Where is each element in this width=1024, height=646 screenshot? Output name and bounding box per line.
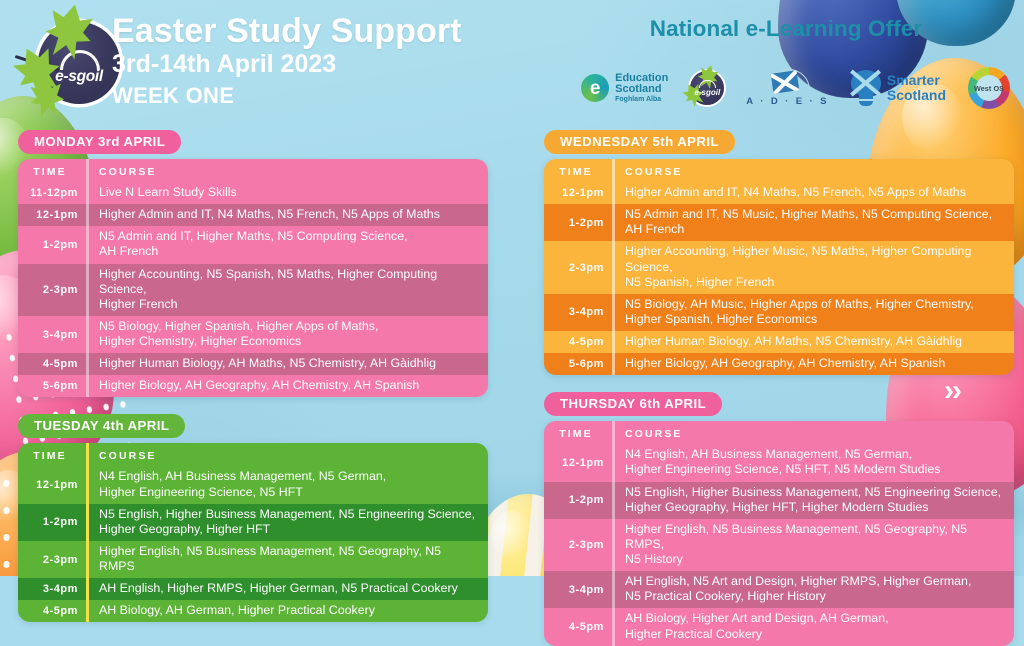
- day-title-monday: MONDAY 3rd APRIL: [18, 130, 181, 154]
- cell-time: 4-5pm: [18, 353, 86, 375]
- partner-logos: Education Scotland Foghlam Alba e-sgoil …: [581, 62, 1010, 114]
- cell-time: 1-2pm: [544, 204, 612, 241]
- schedule-table-thursday: TIMECOURSE12-1pmN4 English, AH Business …: [544, 421, 1014, 645]
- cell-time: 5-6pm: [544, 353, 612, 375]
- cell-course: Higher Admin and IT, N4 Maths, N5 French…: [86, 204, 488, 226]
- table-row: 3-4pmAH English, Higher RMPS, Higher Ger…: [18, 578, 488, 600]
- table-row: 11-12pmLive N Learn Study Skills: [18, 182, 488, 204]
- day-block-tuesday: TUESDAY 4th APRILTIMECOURSE12-1pmN4 Engl…: [18, 414, 488, 622]
- table-row: 1-2pmN5 English, Higher Business Managem…: [544, 482, 1014, 519]
- page-subtitle: 3rd-14th April 2023: [112, 50, 462, 80]
- table-row: 3-4pmN5 Biology, Higher Spanish, Higher …: [18, 316, 488, 353]
- cell-time: 4-5pm: [544, 608, 612, 645]
- table-row: 1-2pmN5 Admin and IT, Higher Maths, N5 C…: [18, 226, 488, 263]
- cell-time: 4-5pm: [18, 600, 86, 622]
- column-header-course: COURSE: [86, 159, 488, 182]
- day-title-thursday: THURSDAY 6th APRIL: [544, 392, 722, 416]
- smarter-scotland-line2: Scotland: [887, 88, 946, 103]
- day-title-tuesday: TUESDAY 4th APRIL: [18, 414, 185, 438]
- day-block-wednesday: WEDNESDAY 5th APRILTIMECOURSE12-1pmHighe…: [544, 130, 1014, 375]
- table-row: 4-5pmAH Biology, Higher Art and Design, …: [544, 608, 1014, 645]
- course-line: Higher Geography, Higher HFT: [99, 522, 475, 537]
- day-block-thursday: THURSDAY 6th APRILTIMECOURSE12-1pmN4 Eng…: [544, 392, 1014, 645]
- table-row: 1-2pmN5 Admin and IT, N5 Music, Higher M…: [544, 204, 1014, 241]
- course-line: Higher English, N5 Business Management, …: [99, 544, 478, 574]
- course-line: Higher Human Biology, AH Maths, N5 Chemi…: [99, 356, 436, 371]
- table-row: 2-3pmHigher English, N5 Business Managem…: [544, 519, 1014, 571]
- course-line: N5 Admin and IT, N5 Music, Higher Maths,…: [625, 207, 992, 222]
- cell-time: 11-12pm: [18, 182, 86, 204]
- cell-time: 2-3pm: [544, 519, 612, 571]
- table-row: 2-3pmHigher Accounting, N5 Spanish, N5 M…: [18, 264, 488, 316]
- course-line: AH French: [625, 222, 992, 237]
- title-block: Easter Study Support 3rd-14th April 2023…: [112, 14, 462, 109]
- course-line: N5 Practical Cookery, Higher History: [625, 589, 971, 604]
- cell-time: 2-3pm: [18, 264, 86, 316]
- course-line: Higher Accounting, N5 Spanish, N5 Maths,…: [99, 267, 478, 297]
- cell-time: 2-3pm: [544, 241, 612, 293]
- education-scotland-line2: Scotland: [615, 84, 668, 95]
- course-line: AH French: [99, 244, 408, 259]
- course-line: Higher Practical Cookery: [625, 627, 889, 642]
- cell-course: Higher English, N5 Business Management, …: [86, 541, 488, 578]
- course-line: N5 History: [625, 552, 1004, 567]
- offer-title: National e-Learning Offer: [576, 16, 996, 42]
- smarter-scotland-line1: Smarter: [887, 73, 946, 88]
- esgoil-arc-icon: [60, 50, 100, 70]
- table-header-row: TIMECOURSE: [18, 159, 488, 182]
- course-line: Live N Learn Study Skills: [99, 185, 237, 200]
- course-line: Higher Chemistry, Higher Economics: [99, 334, 378, 349]
- course-line: N4 English, AH Business Management, N5 G…: [625, 447, 940, 462]
- page-title: Easter Study Support: [112, 14, 462, 49]
- course-line: Higher Biology, AH Geography, AH Chemist…: [625, 356, 945, 371]
- cell-time: 2-3pm: [18, 541, 86, 578]
- table-row: 12-1pmN4 English, AH Business Management…: [544, 444, 1014, 481]
- cell-time: 3-4pm: [544, 294, 612, 331]
- education-scotland-e-icon: [581, 74, 609, 102]
- cell-course: Higher Admin and IT, N4 Maths, N5 French…: [612, 182, 1014, 204]
- table-row: 5-6pmHigher Biology, AH Geography, AH Ch…: [544, 353, 1014, 375]
- cell-course: N5 English, Higher Business Management, …: [612, 482, 1014, 519]
- column-header-course: COURSE: [86, 443, 488, 466]
- table-row: 3-4pmN5 Biology, AH Music, Higher Apps o…: [544, 294, 1014, 331]
- course-line: Higher English, N5 Business Management, …: [625, 522, 1004, 552]
- course-line: N5 English, Higher Business Management, …: [99, 507, 475, 522]
- column-header-time: TIME: [18, 443, 86, 466]
- schedule-table-wednesday: TIMECOURSE12-1pmHigher Admin and IT, N4 …: [544, 159, 1014, 375]
- ades-label: A · D · E · S: [746, 96, 829, 107]
- table-row: 4-5pmAH Biology, AH German, Higher Pract…: [18, 600, 488, 622]
- cell-time: 3-4pm: [544, 571, 612, 608]
- saltire-flag-icon: [766, 69, 810, 95]
- course-line: N5 Biology, Higher Spanish, Higher Apps …: [99, 319, 378, 334]
- table-row: 1-2pmN5 English, Higher Business Managem…: [18, 504, 488, 541]
- table-row: 2-3pmHigher English, N5 Business Managem…: [18, 541, 488, 578]
- course-line: Higher Engineering Science, N5 HFT, N5 M…: [625, 462, 940, 477]
- course-line: AH English, Higher RMPS, Higher German, …: [99, 581, 458, 596]
- course-line: N5 Spanish, Higher French: [625, 275, 1004, 290]
- column-header-time: TIME: [18, 159, 86, 182]
- course-line: N5 Admin and IT, Higher Maths, N5 Comput…: [99, 229, 408, 244]
- course-line: Higher Admin and IT, N4 Maths, N5 French…: [625, 185, 966, 200]
- cell-time: 5-6pm: [18, 375, 86, 397]
- esgoil-partner-label: e-sgoil: [690, 88, 724, 97]
- cell-course: AH Biology, AH German, Higher Practical …: [86, 600, 488, 622]
- column-header-time: TIME: [544, 421, 612, 444]
- cell-course: Higher Human Biology, AH Maths, N5 Chemi…: [612, 331, 1014, 353]
- cell-time: 12-1pm: [544, 444, 612, 481]
- cell-course: N5 Admin and IT, N5 Music, Higher Maths,…: [612, 204, 1014, 241]
- table-header-row: TIMECOURSE: [544, 421, 1014, 444]
- esgoil-partner-logo: e-sgoil: [690, 71, 724, 105]
- cell-course: AH English, Higher RMPS, Higher German, …: [86, 578, 488, 600]
- course-line: N5 Biology, AH Music, Higher Apps of Mat…: [625, 297, 974, 312]
- cell-time: 1-2pm: [18, 504, 86, 541]
- table-row: 4-5pmHigher Human Biology, AH Maths, N5 …: [544, 331, 1014, 353]
- education-scotland-line3: Foghlam Alba: [615, 96, 668, 103]
- table-header-row: TIMECOURSE: [544, 159, 1014, 182]
- column-header-course: COURSE: [612, 159, 1014, 182]
- west-os-logo: West OS: [968, 67, 1010, 109]
- cell-course: Higher Biology, AH Geography, AH Chemist…: [612, 353, 1014, 375]
- cell-course: N4 English, AH Business Management, N5 G…: [86, 466, 488, 503]
- cell-time: 12-1pm: [18, 204, 86, 226]
- course-line: AH Biology, Higher Art and Design, AH Ge…: [625, 611, 889, 626]
- table-row: 3-4pmAH English, N5 Art and Design, High…: [544, 571, 1014, 608]
- ades-logo: A · D · E · S: [746, 69, 829, 107]
- course-line: Higher Engineering Science, N5 HFT: [99, 485, 386, 500]
- course-line: AH English, N5 Art and Design, Higher RM…: [625, 574, 971, 589]
- cell-course: Higher Accounting, N5 Spanish, N5 Maths,…: [86, 264, 488, 316]
- day-title-wednesday: WEDNESDAY 5th APRIL: [544, 130, 735, 154]
- esgoil-logo: e-sgoil: [12, 6, 120, 118]
- cell-course: Higher Biology, AH Geography, AH Chemist…: [86, 375, 488, 397]
- smarter-scotland-logo: Smarter Scotland: [851, 70, 946, 106]
- course-line: Higher French: [99, 297, 478, 312]
- cell-time: 12-1pm: [544, 182, 612, 204]
- cell-time: 12-1pm: [18, 466, 86, 503]
- course-line: Higher Human Biology, AH Maths, N5 Chemi…: [625, 334, 962, 349]
- cell-course: N5 English, Higher Business Management, …: [86, 504, 488, 541]
- cell-course: AH Biology, Higher Art and Design, AH Ge…: [612, 608, 1014, 645]
- cell-course: Higher Accounting, Higher Music, N5 Math…: [612, 241, 1014, 293]
- course-line: N4 English, AH Business Management, N5 G…: [99, 469, 386, 484]
- table-row: 12-1pmN4 English, AH Business Management…: [18, 466, 488, 503]
- cell-time: 3-4pm: [18, 316, 86, 353]
- page-header: e-sgoil Easter Study Support 3rd-14th Ap…: [0, 0, 1024, 128]
- cell-course: N5 Admin and IT, Higher Maths, N5 Comput…: [86, 226, 488, 263]
- education-scotland-logo: Education Scotland Foghlam Alba: [581, 73, 668, 104]
- course-line: Higher Admin and IT, N4 Maths, N5 French…: [99, 207, 440, 222]
- left-column: MONDAY 3rd APRILTIMECOURSE11-12pmLive N …: [18, 130, 488, 622]
- course-line: Higher Accounting, Higher Music, N5 Math…: [625, 244, 1004, 274]
- table-header-row: TIMECOURSE: [18, 443, 488, 466]
- page-week: WEEK ONE: [112, 83, 462, 109]
- cell-course: Live N Learn Study Skills: [86, 182, 488, 204]
- cell-course: N4 English, AH Business Management, N5 G…: [612, 444, 1014, 481]
- course-line: Higher Spanish, Higher Economics: [625, 312, 974, 327]
- table-row: 12-1pmHigher Admin and IT, N4 Maths, N5 …: [544, 182, 1014, 204]
- table-row: 2-3pmHigher Accounting, Higher Music, N5…: [544, 241, 1014, 293]
- schedule-table-monday: TIMECOURSE11-12pmLive N Learn Study Skil…: [18, 159, 488, 397]
- cell-time: 4-5pm: [544, 331, 612, 353]
- cell-time: 1-2pm: [544, 482, 612, 519]
- west-os-label: West OS: [974, 84, 1004, 93]
- cell-course: Higher English, N5 Business Management, …: [612, 519, 1014, 571]
- day-block-monday: MONDAY 3rd APRILTIMECOURSE11-12pmLive N …: [18, 130, 488, 397]
- cell-course: AH English, N5 Art and Design, Higher RM…: [612, 571, 1014, 608]
- cell-course: N5 Biology, Higher Spanish, Higher Apps …: [86, 316, 488, 353]
- cell-time: 3-4pm: [18, 578, 86, 600]
- cell-course: N5 Biology, AH Music, Higher Apps of Mat…: [612, 294, 1014, 331]
- course-line: Higher Biology, AH Geography, AH Chemist…: [99, 378, 419, 393]
- cell-course: Higher Human Biology, AH Maths, N5 Chemi…: [86, 353, 488, 375]
- schedule-table-tuesday: TIMECOURSE12-1pmN4 English, AH Business …: [18, 443, 488, 622]
- thistle-icon: [851, 70, 881, 106]
- course-line: AH Biology, AH German, Higher Practical …: [99, 603, 375, 618]
- column-header-course: COURSE: [612, 421, 1014, 444]
- column-header-time: TIME: [544, 159, 612, 182]
- table-row: 12-1pmHigher Admin and IT, N4 Maths, N5 …: [18, 204, 488, 226]
- right-column: WEDNESDAY 5th APRILTIMECOURSE12-1pmHighe…: [544, 130, 1014, 646]
- table-row: 5-6pmHigher Biology, AH Geography, AH Ch…: [18, 375, 488, 397]
- cell-time: 1-2pm: [18, 226, 86, 263]
- table-row: 4-5pmHigher Human Biology, AH Maths, N5 …: [18, 353, 488, 375]
- course-line: Higher Geography, Higher HFT, Higher Mod…: [625, 500, 1001, 515]
- course-line: N5 English, Higher Business Management, …: [625, 485, 1001, 500]
